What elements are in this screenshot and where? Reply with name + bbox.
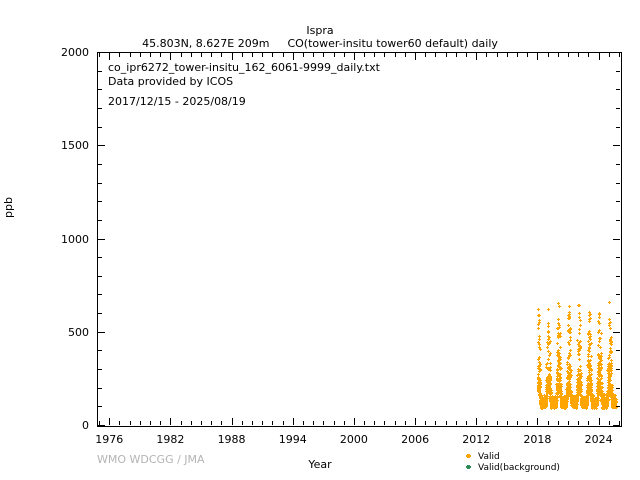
tick-mark	[613, 145, 620, 146]
x-tick-label: 2024	[569, 434, 629, 445]
data-point	[549, 383, 552, 386]
tick-mark	[211, 53, 212, 57]
tick-mark	[486, 421, 487, 425]
x-tick-label: 1988	[202, 434, 262, 445]
legend: ValidValid(background)	[462, 452, 560, 474]
annotation-period: 2017/12/15 - 2025/08/19	[108, 95, 246, 109]
data-point	[568, 311, 571, 314]
tick-mark	[334, 53, 335, 57]
tick-mark	[599, 418, 600, 425]
data-point	[579, 324, 582, 327]
data-point	[608, 301, 611, 304]
data-point	[590, 373, 593, 376]
tick-mark	[98, 332, 105, 333]
tick-mark	[384, 421, 385, 425]
x-tick-label: 1976	[79, 434, 139, 445]
data-point	[590, 382, 593, 385]
data-point	[600, 374, 603, 377]
tick-mark	[99, 53, 100, 57]
tick-mark	[578, 421, 579, 425]
data-point	[546, 346, 549, 349]
tick-mark	[354, 53, 355, 60]
tick-mark	[527, 421, 528, 425]
tick-mark	[527, 53, 528, 57]
tick-mark	[497, 421, 498, 425]
tick-mark	[456, 421, 457, 425]
data-point	[548, 336, 551, 339]
tick-mark	[497, 53, 498, 57]
data-point	[588, 350, 591, 353]
data-point	[569, 349, 572, 352]
data-point	[545, 402, 548, 405]
data-point	[568, 343, 571, 346]
tick-mark	[313, 53, 314, 57]
tick-mark	[588, 53, 589, 57]
data-point	[549, 340, 552, 343]
tick-mark	[405, 421, 406, 425]
tick-mark	[405, 53, 406, 57]
tick-mark	[242, 53, 243, 57]
tick-mark	[150, 421, 151, 425]
data-point	[609, 327, 612, 330]
data-point	[590, 368, 593, 371]
parameter-label: CO(tower-insitu tower60 default) daily	[287, 37, 497, 50]
tick-mark	[119, 53, 120, 57]
tick-mark	[98, 350, 102, 351]
data-point	[606, 405, 609, 408]
data-point	[586, 398, 589, 401]
data-point	[578, 312, 581, 315]
tick-mark	[619, 53, 620, 57]
data-point	[578, 353, 581, 356]
data-point	[555, 405, 558, 408]
tick-mark	[262, 421, 263, 425]
tick-mark	[466, 53, 467, 57]
tick-mark	[616, 220, 620, 221]
data-point	[590, 342, 593, 345]
tick-mark	[616, 369, 620, 370]
tick-mark	[98, 145, 105, 146]
data-point	[589, 317, 592, 320]
tick-mark	[613, 425, 620, 426]
legend-marker-icon	[462, 463, 475, 474]
data-point	[537, 327, 540, 330]
data-point	[548, 342, 551, 345]
data-point	[578, 358, 581, 361]
tick-mark	[548, 421, 549, 425]
tick-mark	[616, 276, 620, 277]
data-point	[609, 321, 612, 324]
data-point	[610, 336, 613, 339]
tick-mark	[466, 421, 467, 425]
tick-mark	[616, 313, 620, 314]
tick-mark	[476, 53, 477, 60]
y-tick-label: 1000	[29, 234, 89, 245]
data-point	[547, 330, 550, 333]
tick-mark	[446, 421, 447, 425]
data-point	[610, 351, 613, 354]
tick-mark	[507, 53, 508, 57]
tick-mark	[616, 201, 620, 202]
tick-mark	[98, 220, 102, 221]
tick-mark	[98, 406, 102, 407]
data-point	[560, 367, 563, 370]
tick-mark	[613, 52, 620, 53]
tick-mark	[517, 53, 518, 57]
legend-label: Valid	[475, 452, 500, 463]
tick-mark	[476, 418, 477, 425]
data-point	[559, 332, 562, 335]
data-point	[598, 322, 601, 325]
data-point	[599, 337, 602, 340]
tick-mark	[354, 418, 355, 425]
tick-mark	[486, 53, 487, 57]
tick-mark	[517, 421, 518, 425]
data-point	[565, 404, 568, 407]
data-point	[538, 314, 541, 317]
tick-mark	[98, 164, 102, 165]
plot-canvas: co_ipr6272_tower-insitu_162_6061-9999_da…	[98, 53, 621, 426]
data-point	[549, 369, 552, 372]
tick-mark	[616, 89, 620, 90]
x-tick-label: 2006	[385, 434, 445, 445]
data-point	[569, 327, 572, 330]
data-point	[545, 400, 548, 403]
tick-mark	[425, 421, 426, 425]
data-point	[539, 348, 542, 351]
tick-mark	[283, 421, 284, 425]
data-point	[580, 372, 583, 375]
data-point	[570, 369, 573, 372]
data-point	[601, 382, 604, 385]
tick-mark	[456, 53, 457, 57]
tick-mark	[578, 53, 579, 57]
watermark: WMO WDCGG / JMA	[97, 453, 205, 466]
tick-mark	[568, 53, 569, 57]
data-point	[601, 386, 604, 389]
tick-mark	[616, 108, 620, 109]
tick-mark	[252, 53, 253, 57]
data-point	[580, 383, 583, 386]
station-coordinates: 45.803N, 8.627E 209m	[142, 37, 269, 50]
data-point	[538, 356, 541, 359]
y-tick-label: 1500	[29, 140, 89, 151]
data-point	[600, 355, 603, 358]
tick-mark	[272, 53, 273, 57]
y-axis-title: ppb	[2, 197, 15, 218]
tick-mark	[283, 53, 284, 57]
tick-mark	[242, 421, 243, 425]
tick-mark	[599, 53, 600, 60]
x-tick-label: 2012	[446, 434, 506, 445]
data-point	[578, 328, 581, 331]
data-point	[569, 365, 572, 368]
data-point	[579, 365, 582, 368]
tick-mark	[613, 239, 620, 240]
tick-mark	[98, 369, 102, 370]
data-point	[568, 305, 571, 308]
data-point	[610, 372, 613, 375]
tick-mark	[616, 127, 620, 128]
chart-title: Ispra	[0, 24, 640, 37]
tick-mark	[170, 418, 171, 425]
tick-mark	[446, 53, 447, 57]
legend-label: Valid(background)	[475, 463, 560, 474]
data-point	[538, 321, 541, 324]
y-tick-label: 2000	[29, 47, 89, 58]
chart-subtitle: 45.803N, 8.627E 209mCO(tower-insitu towe…	[0, 37, 640, 50]
y-tick-label: 0	[29, 420, 89, 431]
tick-mark	[98, 313, 102, 314]
tick-mark	[616, 350, 620, 351]
tick-mark	[344, 421, 345, 425]
data-point	[588, 347, 591, 350]
data-point	[589, 376, 592, 379]
annotation-filename: co_ipr6272_tower-insitu_162_6061-9999_da…	[108, 61, 380, 75]
tick-mark	[395, 53, 396, 57]
tick-mark	[303, 421, 304, 425]
tick-mark	[537, 418, 538, 425]
x-tick-label: 1994	[263, 434, 323, 445]
tick-mark	[537, 53, 538, 60]
tick-mark	[98, 52, 105, 53]
data-point	[599, 346, 602, 349]
data-point	[559, 379, 562, 382]
data-point	[589, 313, 592, 316]
tick-mark	[568, 421, 569, 425]
tick-mark	[313, 421, 314, 425]
data-point	[600, 367, 603, 370]
data-point	[600, 363, 603, 366]
tick-mark	[98, 388, 102, 389]
chart-figure: Ispra 45.803N, 8.627E 209mCO(tower-insit…	[0, 0, 640, 480]
data-point	[576, 403, 579, 406]
data-point	[538, 338, 541, 341]
tick-mark	[191, 421, 192, 425]
tick-mark	[252, 421, 253, 425]
tick-mark	[293, 53, 294, 60]
annotation-provider: Data provided by ICOS	[108, 75, 233, 89]
tick-mark	[616, 294, 620, 295]
tick-mark	[425, 53, 426, 57]
data-point	[557, 318, 560, 321]
tick-mark	[374, 421, 375, 425]
data-point	[600, 332, 603, 335]
tick-mark	[201, 53, 202, 57]
tick-mark	[364, 421, 365, 425]
tick-mark	[119, 421, 120, 425]
tick-mark	[435, 421, 436, 425]
tick-mark	[160, 421, 161, 425]
data-point	[569, 339, 572, 342]
tick-mark	[609, 421, 610, 425]
data-point	[549, 362, 552, 365]
data-point	[611, 386, 614, 389]
tick-mark	[201, 421, 202, 425]
tick-mark	[548, 53, 549, 57]
tick-mark	[211, 421, 212, 425]
data-point	[569, 331, 572, 334]
data-point	[600, 359, 603, 362]
tick-mark	[140, 53, 141, 57]
data-point	[559, 358, 562, 361]
tick-mark	[98, 294, 102, 295]
data-point	[609, 379, 612, 382]
legend-item[interactable]: Valid	[462, 452, 560, 463]
data-point	[578, 304, 581, 307]
data-point	[568, 317, 571, 320]
tick-mark	[232, 53, 233, 60]
tick-mark	[558, 53, 559, 57]
data-point	[560, 383, 563, 386]
tick-mark	[98, 239, 105, 240]
data-point	[579, 340, 582, 343]
tick-mark	[109, 418, 110, 425]
tick-mark	[262, 53, 263, 57]
data-point	[559, 362, 562, 365]
data-point	[558, 305, 561, 308]
tick-mark	[507, 421, 508, 425]
tick-mark	[272, 421, 273, 425]
data-point	[547, 308, 550, 311]
data-point	[559, 346, 562, 349]
data-point	[566, 400, 569, 403]
tick-mark	[232, 418, 233, 425]
tick-mark	[609, 53, 610, 57]
data-point	[569, 354, 572, 357]
tick-mark	[613, 332, 620, 333]
tick-mark	[98, 183, 102, 184]
data-point	[580, 375, 583, 378]
tick-mark	[616, 388, 620, 389]
x-tick-label: 1982	[140, 434, 200, 445]
data-point	[589, 333, 592, 336]
data-point	[590, 355, 593, 358]
tick-mark	[170, 53, 171, 60]
tick-mark	[130, 53, 131, 57]
data-point	[578, 332, 581, 335]
tick-mark	[98, 201, 102, 202]
tick-mark	[323, 421, 324, 425]
legend-marker-icon	[462, 452, 475, 463]
tick-mark	[435, 53, 436, 57]
tick-mark	[109, 53, 110, 60]
tick-mark	[334, 421, 335, 425]
tick-mark	[130, 421, 131, 425]
data-point	[569, 383, 572, 386]
tick-mark	[588, 421, 589, 425]
tick-mark	[616, 257, 620, 258]
data-point	[598, 316, 601, 319]
tick-mark	[98, 127, 102, 128]
tick-mark	[98, 71, 102, 72]
tick-mark	[344, 53, 345, 57]
data-point	[610, 362, 613, 365]
data-point	[549, 375, 552, 378]
tick-mark	[364, 53, 365, 57]
x-tick-label: 2000	[324, 434, 384, 445]
tick-mark	[323, 53, 324, 57]
data-point	[589, 364, 592, 367]
tick-mark	[616, 71, 620, 72]
data-point	[539, 385, 542, 388]
data-point	[580, 390, 583, 393]
data-point	[539, 369, 542, 372]
tick-mark	[616, 164, 620, 165]
tick-mark	[395, 421, 396, 425]
legend-item[interactable]: Valid(background)	[462, 463, 560, 474]
tick-mark	[303, 53, 304, 57]
data-point	[579, 319, 582, 322]
tick-mark	[221, 421, 222, 425]
data-point	[539, 382, 542, 385]
data-point	[615, 401, 618, 404]
tick-mark	[616, 406, 620, 407]
tick-mark	[415, 418, 416, 425]
tick-mark	[160, 53, 161, 57]
plot-area: co_ipr6272_tower-insitu_162_6061-9999_da…	[97, 52, 622, 427]
data-point	[570, 374, 573, 377]
y-tick-label: 500	[29, 327, 89, 338]
data-point	[598, 340, 601, 343]
tick-mark	[616, 183, 620, 184]
data-point	[610, 343, 613, 346]
tick-mark	[181, 53, 182, 57]
tick-mark	[384, 53, 385, 57]
tick-mark	[191, 53, 192, 57]
data-point	[539, 363, 542, 366]
tick-mark	[293, 418, 294, 425]
tick-mark	[374, 53, 375, 57]
tick-mark	[150, 53, 151, 57]
data-point	[600, 352, 603, 355]
tick-mark	[98, 425, 105, 426]
x-tick-label: 2018	[507, 434, 567, 445]
tick-mark	[98, 108, 102, 109]
data-point	[556, 399, 559, 402]
data-point	[537, 308, 540, 311]
tick-mark	[415, 53, 416, 60]
tick-mark	[140, 421, 141, 425]
data-point	[558, 324, 561, 327]
tick-mark	[558, 421, 559, 425]
tick-mark	[98, 257, 102, 258]
data-point	[556, 342, 559, 345]
tick-mark	[98, 276, 102, 277]
data-point	[547, 325, 550, 328]
tick-mark	[221, 53, 222, 57]
tick-mark	[98, 89, 102, 90]
data-point	[579, 345, 582, 348]
data-point	[549, 352, 552, 355]
data-point	[589, 359, 592, 362]
tick-mark	[181, 421, 182, 425]
data-point	[559, 335, 562, 338]
